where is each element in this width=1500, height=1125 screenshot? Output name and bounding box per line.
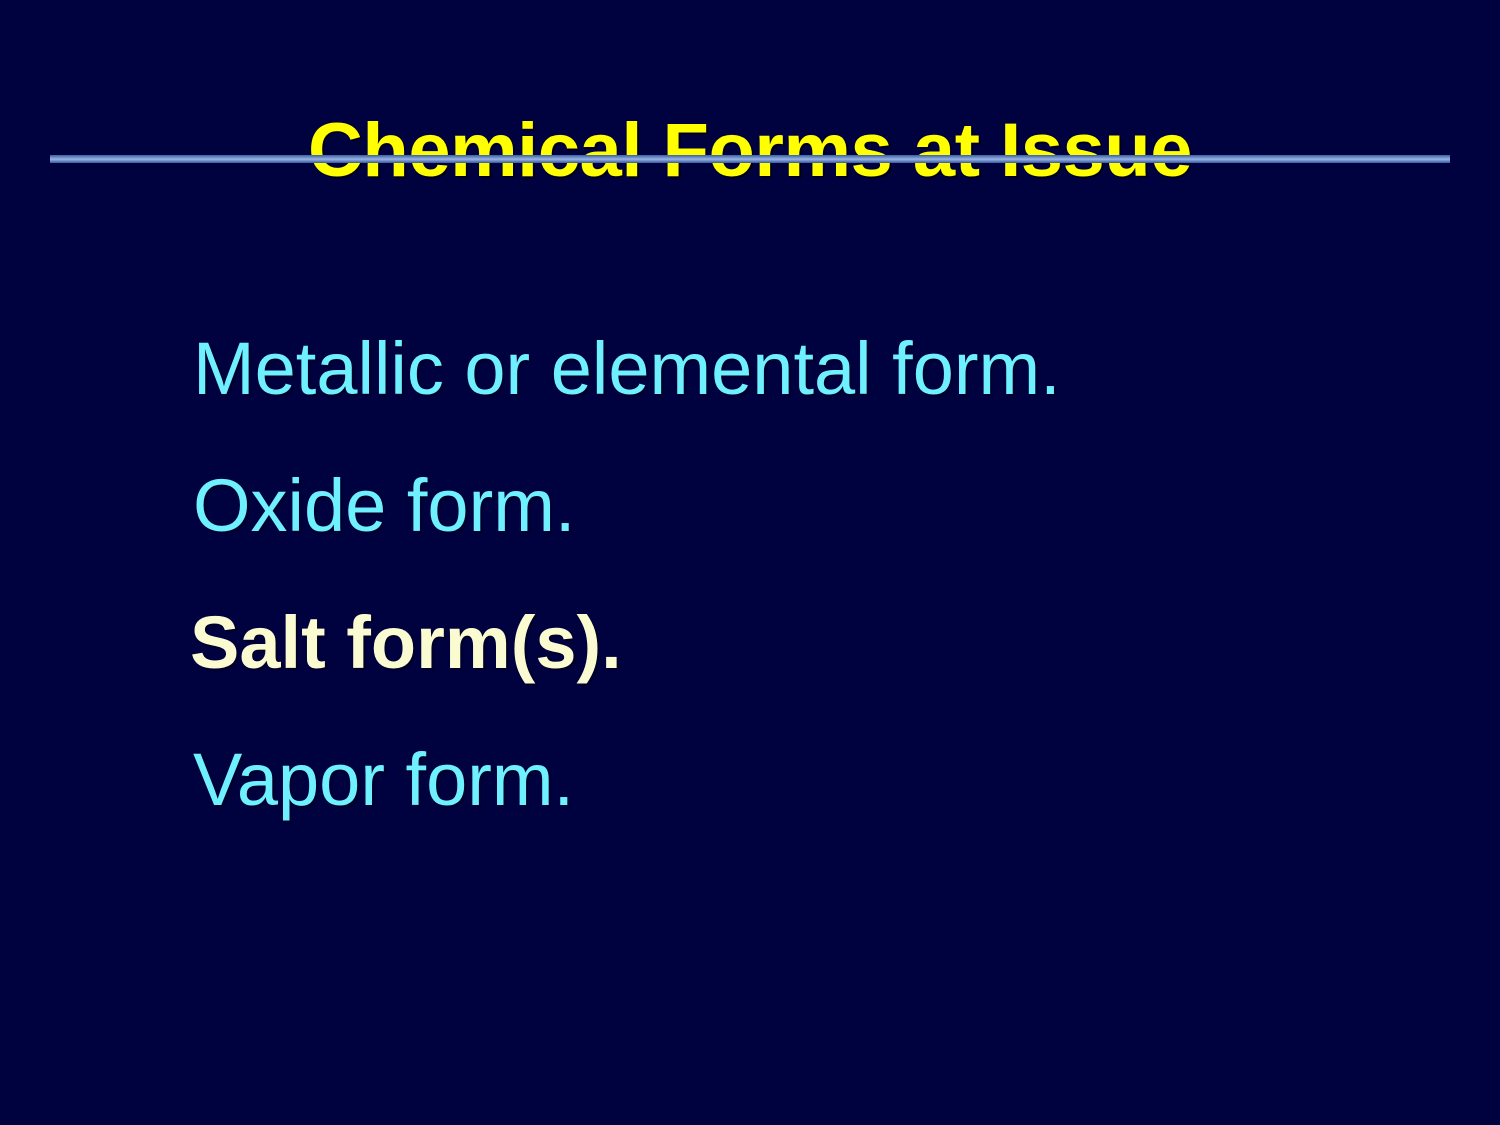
title-divider bbox=[50, 155, 1450, 163]
list-item: Metallic or elemental form. bbox=[193, 300, 1443, 437]
list-item: Vapor form. bbox=[193, 711, 1443, 848]
presentation-slide: Chemical Forms at Issue Metallic or elem… bbox=[0, 0, 1500, 1125]
list-item: Salt form(s). bbox=[190, 574, 1443, 711]
bullet-list: Metallic or elemental form. Oxide form. … bbox=[193, 300, 1443, 848]
page-title: Chemical Forms at Issue bbox=[0, 113, 1500, 189]
list-item: Oxide form. bbox=[193, 437, 1443, 574]
